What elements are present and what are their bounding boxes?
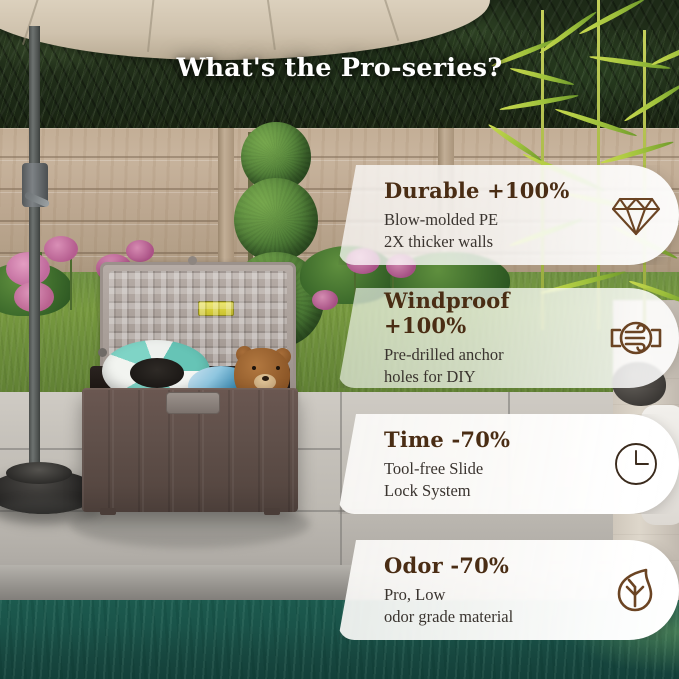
card-text-durable: Durable +100% Blow-molded PE 2X thicker … — [384, 178, 599, 253]
card-line-2: holes for DIY — [384, 366, 599, 388]
card-text-odor: Odor -70% Pro, Low odor grade material — [384, 553, 599, 628]
warning-label — [198, 301, 234, 316]
card-line-2: Lock System — [384, 480, 599, 502]
fence-post — [218, 128, 234, 278]
wind-icon — [599, 316, 673, 360]
pink-flower — [44, 236, 78, 262]
umbrella-base-top — [6, 462, 72, 484]
lid-latch-knob — [188, 256, 197, 265]
card-text-time: Time -70% Tool-free Slide Lock System — [384, 427, 599, 502]
card-line-2: odor grade material — [384, 606, 599, 628]
pink-flower — [126, 240, 154, 262]
deck-storage-box — [82, 262, 298, 538]
card-line-1: Blow-molded PE — [384, 209, 599, 231]
card-text-windproof: Windproof +100% Pre-drilled anchor holes… — [384, 288, 599, 388]
clock-icon — [599, 440, 673, 488]
infographic-root: What's the Pro-series? Durable +100% Blo… — [0, 0, 679, 679]
diamond-icon — [599, 192, 673, 238]
pool-float-hole — [130, 358, 184, 388]
card-line-2: 2X thicker walls — [384, 231, 599, 253]
feature-card-windproof[interactable]: Windproof +100% Pre-drilled anchor holes… — [338, 288, 679, 388]
title-bar: What's the Pro-series? — [0, 45, 679, 91]
card-heading: Windproof +100% — [384, 288, 599, 338]
umbrella-pole — [29, 26, 40, 486]
feature-card-odor[interactable]: Odor -70% Pro, Low odor grade material — [338, 540, 679, 640]
card-heading: Time -70% — [384, 427, 599, 452]
card-heading: Durable +100% — [384, 178, 599, 203]
feature-card-durable[interactable]: Durable +100% Blow-molded PE 2X thicker … — [338, 165, 679, 265]
pink-flower — [6, 252, 50, 286]
box-handle — [166, 392, 220, 414]
leaf-icon — [599, 565, 673, 615]
card-line-1: Tool-free Slide — [384, 458, 599, 480]
teddy-bear-nose — [262, 376, 269, 381]
topiary-ball — [234, 178, 318, 262]
feature-card-time[interactable]: Time -70% Tool-free Slide Lock System — [338, 414, 679, 514]
pink-flower — [312, 290, 338, 310]
card-line-1: Pre-drilled anchor — [384, 344, 599, 366]
page-title: What's the Pro-series? — [177, 53, 503, 83]
card-line-1: Pro, Low — [384, 584, 599, 606]
card-heading: Odor -70% — [384, 553, 599, 578]
